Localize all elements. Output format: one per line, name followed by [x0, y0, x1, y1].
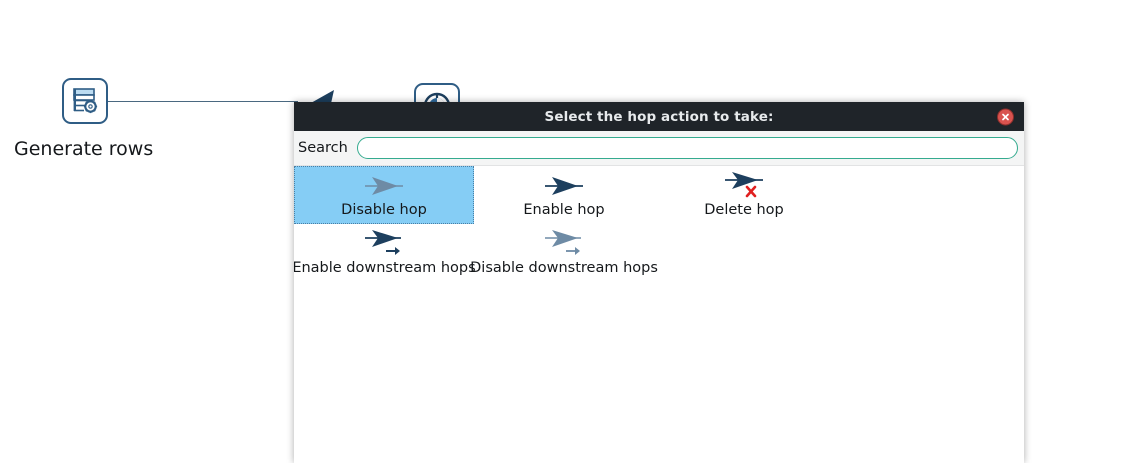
search-row: Search — [294, 131, 1024, 166]
hop-action-disable-hop[interactable]: Disable hop — [294, 166, 474, 224]
hop-enable-downstream-arrow-icon — [361, 231, 407, 257]
hop-disable-downstream-arrow-icon — [541, 231, 587, 257]
hop-action-enable-hop[interactable]: Enable hop — [474, 166, 654, 224]
search-label: Search — [296, 140, 357, 156]
hop-action-label: Enable downstream hops — [294, 257, 476, 279]
hop-action-enable-downstream-hops[interactable]: Enable downstream hops — [294, 224, 474, 282]
hop-action-list: Disable hop Enable hop — [294, 166, 1024, 463]
dialog-title: Select the hop action to take: — [545, 109, 774, 125]
hop-delete-arrow-icon — [721, 173, 767, 199]
search-input[interactable] — [357, 137, 1018, 159]
hop-action-label: Delete hop — [704, 199, 784, 221]
hop-action-label: Enable hop — [523, 199, 604, 221]
node-generate-rows-box[interactable] — [62, 78, 108, 124]
dialog-titlebar: Select the hop action to take: — [294, 102, 1024, 131]
hop-action-disable-downstream-hops[interactable]: Disable downstream hops — [474, 224, 654, 282]
hop-enabled-arrow-icon — [541, 173, 587, 199]
hop-action-row-1: Disable hop Enable hop — [294, 166, 1024, 224]
hop-connector-line — [108, 101, 298, 102]
node-generate-rows[interactable]: Generate rows — [62, 78, 108, 124]
hop-action-row-2: Enable downstream hops Disable downstrea… — [294, 224, 1024, 282]
hop-action-dialog: Select the hop action to take: Search Di… — [294, 102, 1024, 463]
hop-disabled-arrow-icon — [361, 173, 407, 199]
node-generate-rows-label: Generate rows — [14, 138, 153, 160]
hop-action-label: Disable downstream hops — [470, 257, 658, 279]
hop-action-label: Disable hop — [341, 199, 427, 221]
close-icon[interactable] — [997, 108, 1014, 125]
hop-action-delete-hop[interactable]: Delete hop — [654, 166, 834, 224]
